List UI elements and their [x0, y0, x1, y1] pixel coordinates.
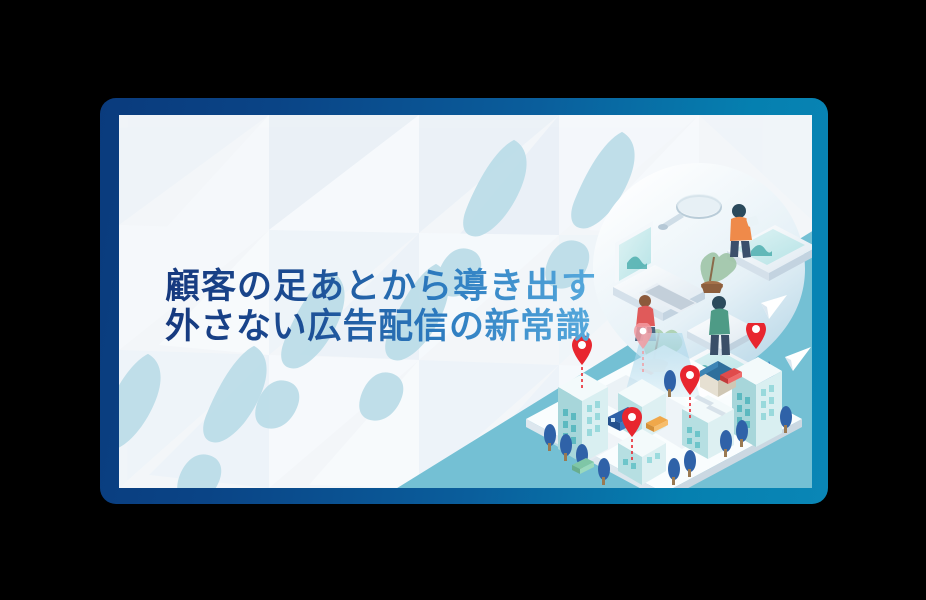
smartphone-icon: [667, 345, 761, 403]
magnifier-icon: [658, 194, 721, 230]
person-red: [635, 295, 656, 341]
title-line-1: 顧客の足あとから導き出す: [165, 267, 597, 307]
slide-card-frame: 顧客の足あとから導き出す 外さない広告配信の新常識: [100, 98, 828, 504]
office-building: [618, 379, 666, 441]
person-green: [709, 296, 730, 355]
tablet-icon: [727, 225, 812, 281]
background-facets: [119, 115, 812, 488]
slide-content: 顧客の足あとから導き出す 外さない広告配信の新常識: [119, 115, 812, 488]
footprint-pattern: [119, 115, 812, 488]
car: [572, 458, 594, 474]
bus: [608, 407, 640, 431]
isometric-city-illustration: [514, 323, 812, 488]
house: [700, 361, 736, 397]
location-pin: [746, 323, 766, 349]
tower-building: [732, 357, 782, 447]
paper-plane-icon: [785, 347, 811, 371]
potted-plant: [643, 329, 682, 372]
teal-diagonal-wedge: [394, 230, 812, 488]
person-orange: [730, 204, 759, 258]
slide-title: 顧客の足あとから導き出す 外さない広告配信の新常識: [165, 267, 597, 347]
cone-marker: [761, 361, 777, 383]
laptop-icon: [613, 221, 705, 321]
location-pin: [622, 407, 642, 463]
car: [720, 368, 742, 384]
office-building: [682, 395, 734, 459]
map-pin-devices-illustration: [579, 155, 812, 425]
car: [646, 416, 668, 432]
paper-plane-icon: [761, 295, 787, 319]
location-pin: [572, 335, 592, 389]
location-pin: [680, 365, 700, 421]
tower-building: [558, 373, 608, 463]
tree: [544, 370, 792, 485]
screenshot-canvas: 顧客の足あとから導き出す 外さない広告配信の新常識: [0, 0, 926, 600]
office-building: [618, 429, 666, 485]
potted-plant: [700, 252, 736, 293]
location-pin: [634, 323, 652, 375]
center-platform: [687, 311, 757, 356]
title-line-2: 外さない広告配信の新常識: [165, 307, 597, 347]
